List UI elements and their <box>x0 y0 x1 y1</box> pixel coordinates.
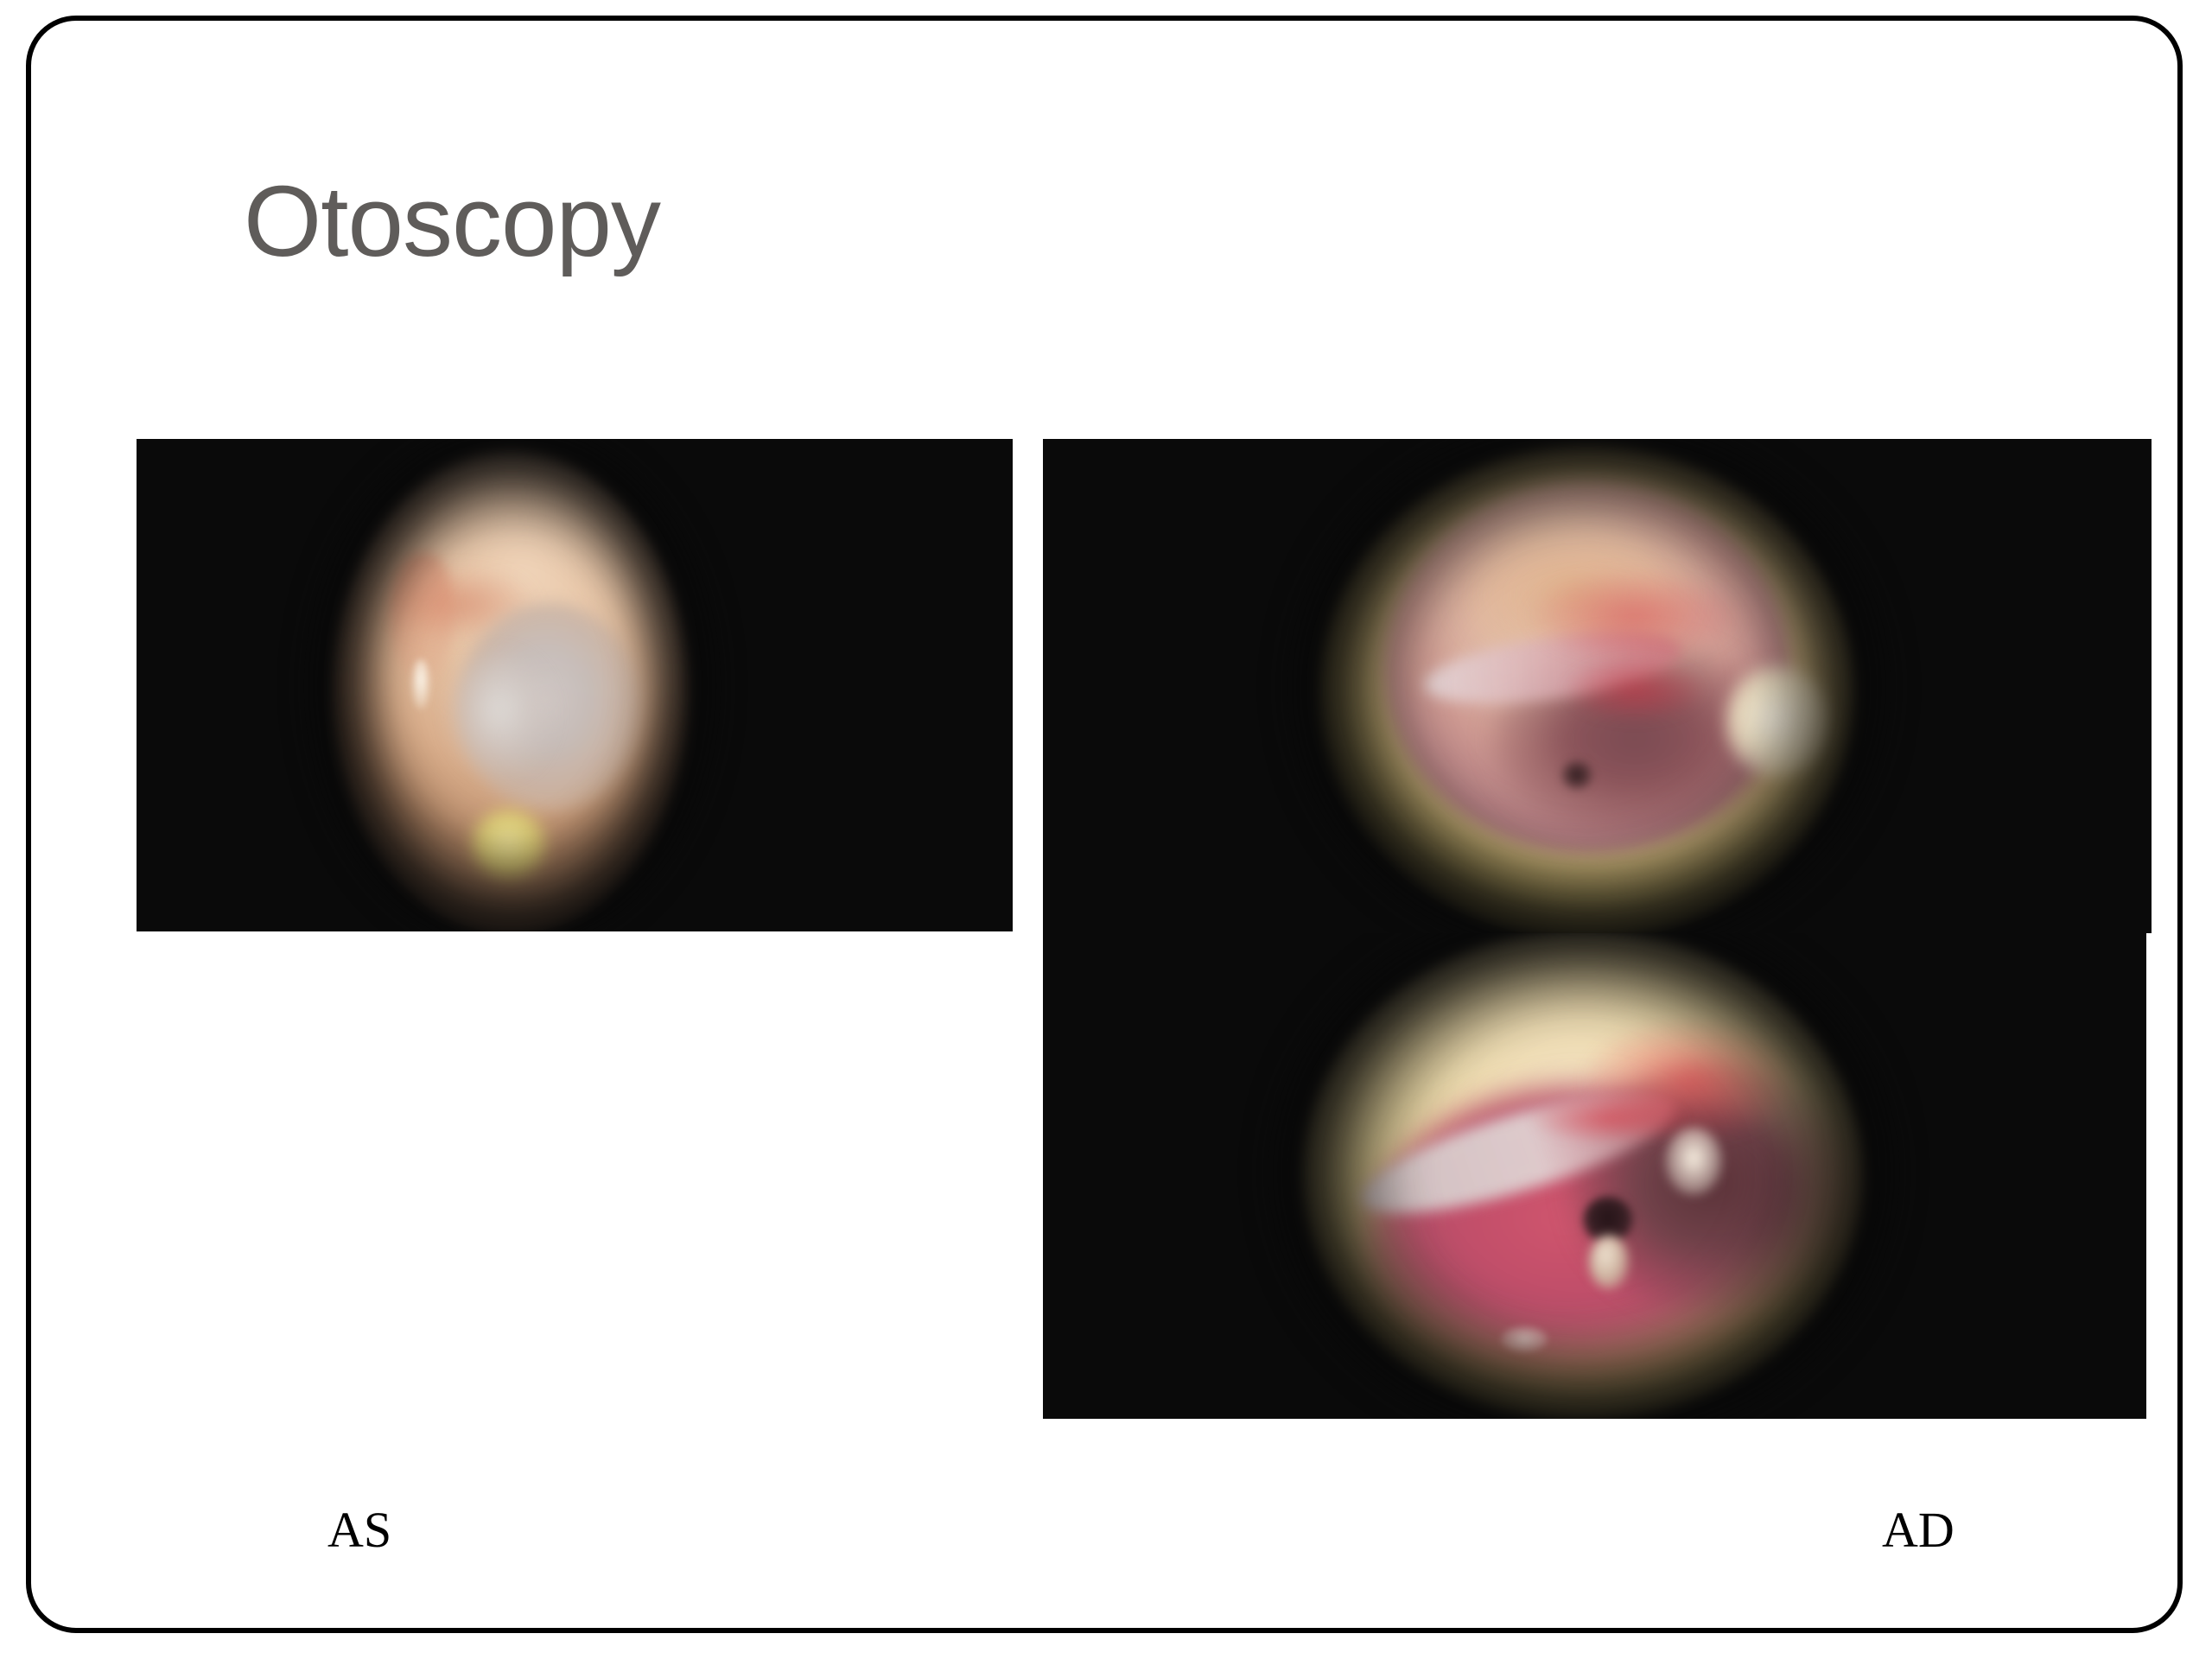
vignette-as <box>309 439 715 931</box>
otoscopy-photo-right-ear-upper <box>1043 439 2152 933</box>
vignette-ad-upper <box>1294 439 1885 933</box>
caption-right-ear: AD <box>1882 1505 1955 1555</box>
otoscopy-photo-left-ear <box>137 439 1013 931</box>
caption-left-ear: AS <box>327 1505 391 1555</box>
page-title: Otoscopy <box>244 169 660 275</box>
slide: Otoscopy AS AD <box>0 0 2212 1659</box>
otoscopy-photo-right-ear-lower <box>1043 933 2146 1419</box>
vignette-ad-lower <box>1274 933 1893 1419</box>
